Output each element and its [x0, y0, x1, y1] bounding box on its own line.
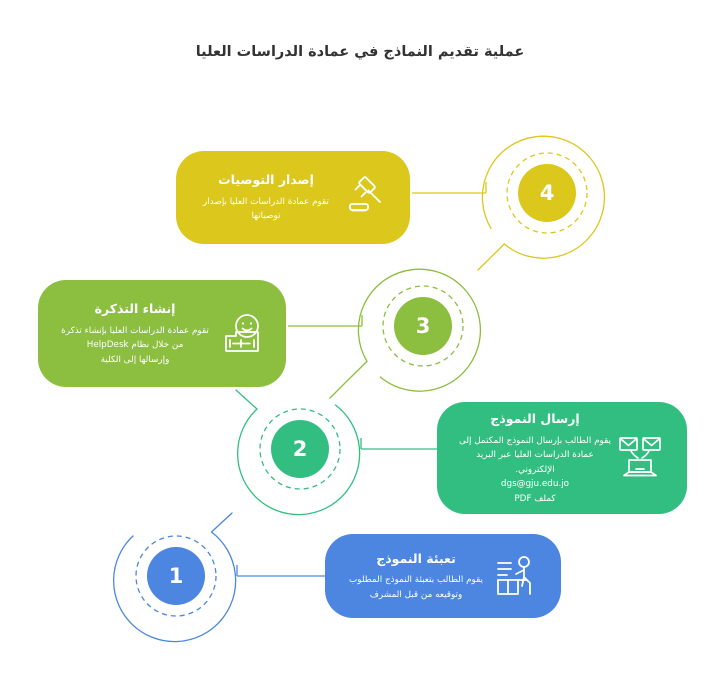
- step-2-text: إرسال النموذج يقوم الطالب بإرسال النموذج…: [455, 410, 615, 506]
- laptop-email-send-icon: [615, 431, 669, 485]
- step-4-card[interactable]: إصدار التوصيات تقوم عمادة الدراسات العلي…: [176, 151, 410, 244]
- step-3-desc-line-3: وإرسالها إلى الكلية: [60, 353, 210, 368]
- step-4-rings: [412, 136, 604, 270]
- step-3-title: إنشاء التذكرة: [60, 300, 210, 319]
- step-4-number: 4: [540, 181, 555, 205]
- step-4-number-circle[interactable]: 4: [518, 164, 576, 222]
- step-2-title: إرسال النموذج: [459, 410, 611, 429]
- step-1-text: تعبئة النموذج يقوم الطالب بتعبئة النموذج…: [343, 550, 489, 603]
- page-title: عملية تقديم النماذج في عمادة الدراسات ال…: [0, 44, 720, 60]
- step-2-desc-line-1: يقوم الطالب بإرسال النموذج المكتمل إلى: [459, 434, 611, 449]
- step-2-number: 2: [293, 437, 308, 461]
- step-1-description: يقوم الطالب بتعبئة النموذج المطلوب وتوقي…: [347, 573, 485, 602]
- gavel-icon: [338, 171, 392, 225]
- step-4-desc-line-2: توصياتها: [198, 209, 334, 224]
- step-3-desc-line-2: من خلال نظام HelpDesk: [60, 338, 210, 353]
- step-1-title: تعبئة النموذج: [347, 550, 485, 569]
- step-1-number-circle[interactable]: 1: [147, 547, 205, 605]
- step-3-text: إنشاء التذكرة تقوم عمادة الدراسات العليا…: [56, 300, 214, 367]
- step-3-number-circle[interactable]: 3: [394, 297, 452, 355]
- step-2-number-circle[interactable]: 2: [271, 420, 329, 478]
- person-at-desk-form-icon: [489, 549, 543, 603]
- step-1-card[interactable]: تعبئة النموذج يقوم الطالب بتعبئة النموذج…: [325, 534, 561, 618]
- step-3-rings: [288, 269, 480, 398]
- step-4-desc-line-1: تقوم عمادة الدراسات العليا بإصدار: [198, 195, 334, 210]
- step-3-description: تقوم عمادة الدراسات العليا بإنشاء تذكرة …: [60, 324, 210, 368]
- step-2-description: يقوم الطالب بإرسال النموذج المكتمل إلى ع…: [459, 434, 611, 507]
- infographic-canvas: عملية تقديم النماذج في عمادة الدراسات ال…: [0, 0, 720, 693]
- step-2-card[interactable]: إرسال النموذج يقوم الطالب بإرسال النموذج…: [437, 402, 687, 514]
- step-1-number: 1: [169, 564, 184, 588]
- step-1-desc-line-2: وتوقيعه من قبل المشرف: [347, 588, 485, 603]
- step-4-text: إصدار التوصيات تقوم عمادة الدراسات العلي…: [194, 171, 338, 224]
- step-4-description: تقوم عمادة الدراسات العليا بإصدار توصيات…: [198, 195, 334, 224]
- ticket-smiley-icon: [214, 307, 268, 361]
- step-2-desc-line-4: كملف PDF: [459, 492, 611, 507]
- step-1-desc-line-1: يقوم الطالب بتعبئة النموذج المطلوب: [347, 573, 485, 588]
- step-2-rings: [236, 390, 437, 515]
- step-1-rings: [114, 513, 325, 642]
- step-3-desc-line-1: تقوم عمادة الدراسات العليا بإنشاء تذكرة: [60, 324, 210, 339]
- step-2-email: dgs@gju.edu.jo: [501, 477, 569, 492]
- step-3-card[interactable]: إنشاء التذكرة تقوم عمادة الدراسات العليا…: [38, 280, 286, 387]
- step-4-title: إصدار التوصيات: [198, 171, 334, 190]
- step-2-desc-line-2: عمادة الدراسات العليا عبر البريد الإلكتر…: [459, 448, 611, 477]
- step-3-number: 3: [416, 314, 431, 338]
